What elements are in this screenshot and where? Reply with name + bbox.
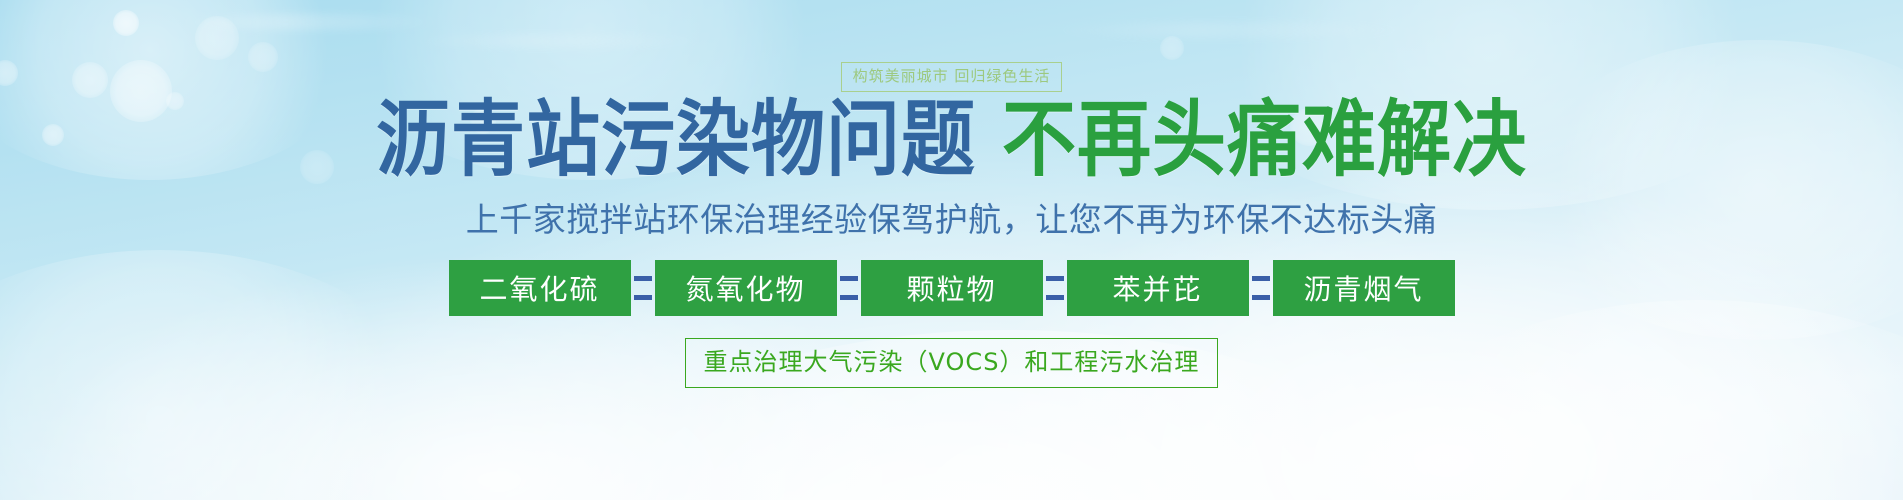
- separator-dash-icon: [1252, 276, 1270, 281]
- separator-dash-icon: [1046, 295, 1064, 300]
- tag-separator: [631, 260, 655, 316]
- tag-item-sulfur-dioxide[interactable]: 二氧化硫: [449, 260, 631, 316]
- separator-dash-icon: [1252, 295, 1270, 300]
- hero-banner: 构筑美丽城市 回归绿色生活 沥青站污染物问题 不再头痛难解决 上千家搅拌站环保治…: [0, 0, 1903, 500]
- separator-dash-icon: [1046, 276, 1064, 281]
- tag-separator: [1249, 260, 1273, 316]
- banner-content: 构筑美丽城市 回归绿色生活 沥青站污染物问题 不再头痛难解决 上千家搅拌站环保治…: [0, 0, 1903, 500]
- tagline-badge: 构筑美丽城市 回归绿色生活: [841, 62, 1063, 92]
- tag-separator: [837, 260, 861, 316]
- subtitle-text: 上千家搅拌站环保治理经验保驾护航，让您不再为环保不达标头痛: [466, 202, 1438, 238]
- footer-note-badge: 重点治理大气污染（VOCS）和工程污水治理: [685, 338, 1219, 388]
- tag-separator: [1043, 260, 1067, 316]
- headline-blue-text: 沥青站污染物问题: [376, 96, 976, 185]
- tag-item-asphalt-fume[interactable]: 沥青烟气: [1273, 260, 1455, 316]
- separator-dash-icon: [840, 295, 858, 300]
- tag-item-nitrogen-oxides[interactable]: 氮氧化物: [655, 260, 837, 316]
- page-title: 沥青站污染物问题 不再头痛难解决: [376, 106, 1527, 186]
- separator-dash-icon: [634, 295, 652, 300]
- tag-item-particulate[interactable]: 颗粒物: [861, 260, 1043, 316]
- tag-item-benzopyrene[interactable]: 苯并芘: [1067, 260, 1249, 316]
- pollutant-tag-row: 二氧化硫 氮氧化物 颗粒物 苯并芘 沥青烟气: [449, 260, 1455, 316]
- separator-dash-icon: [634, 276, 652, 281]
- separator-dash-icon: [840, 276, 858, 281]
- headline-green-text: 不再头痛难解决: [1002, 96, 1527, 185]
